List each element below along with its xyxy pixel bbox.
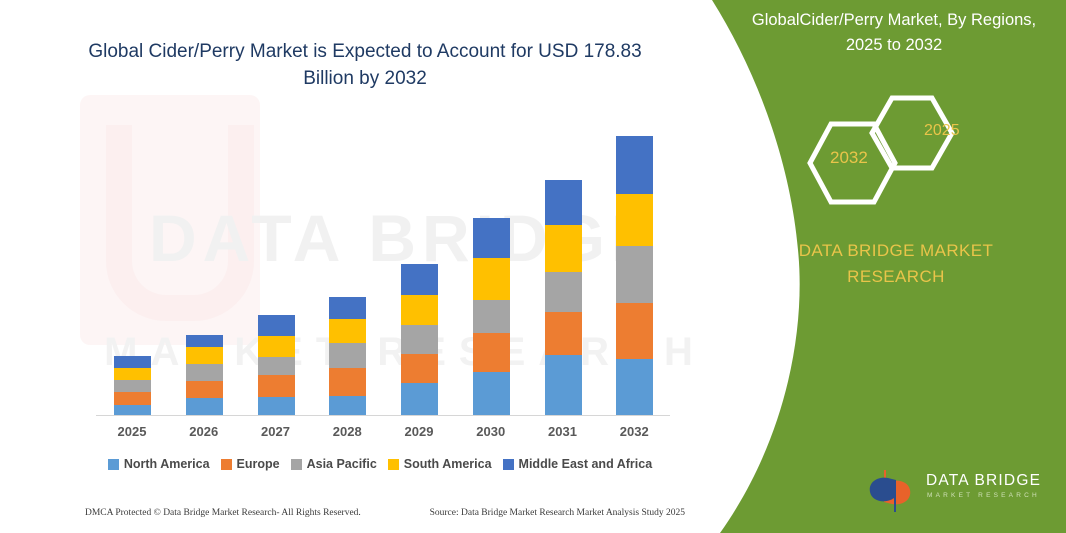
- footer-source: Source: Data Bridge Market Research Mark…: [430, 508, 685, 518]
- bar-segment[interactable]: [114, 405, 151, 415]
- logo-title: DATA BRIDGE: [926, 472, 1041, 490]
- bar-segment[interactable]: [114, 368, 151, 380]
- bar-segment[interactable]: [473, 300, 510, 333]
- stacked-bar[interactable]: [114, 356, 151, 415]
- legend-swatch: [221, 459, 232, 470]
- bar-segment[interactable]: [114, 356, 151, 368]
- chart-legend: North AmericaEuropeAsia PacificSouth Ame…: [85, 457, 675, 471]
- bar-segment[interactable]: [258, 357, 295, 375]
- bar-segment[interactable]: [186, 364, 223, 381]
- legend-swatch: [108, 459, 119, 470]
- legend-label: South America: [404, 457, 492, 471]
- bar-segment[interactable]: [616, 303, 653, 359]
- bar-group-2025: [96, 110, 168, 415]
- infographic-page: DATA BRIDGE MARKET RESEARCH Global Cider…: [0, 0, 1066, 533]
- bar-segment[interactable]: [401, 383, 438, 415]
- bar-segment[interactable]: [616, 136, 653, 194]
- stacked-bar[interactable]: [545, 180, 582, 415]
- bar-segment[interactable]: [258, 336, 295, 357]
- brand-name: DATA BRIDGE MARKET RESEARCH: [756, 238, 1036, 290]
- bar-segment[interactable]: [545, 312, 582, 355]
- bar-segment[interactable]: [186, 398, 223, 415]
- legend-item[interactable]: Middle East and Africa: [503, 457, 653, 471]
- bar-segment[interactable]: [545, 272, 582, 312]
- stacked-bar[interactable]: [616, 136, 653, 415]
- logo-subtitle: MARKET RESEARCH: [927, 492, 1040, 499]
- bar-group-2032: [598, 110, 670, 415]
- x-axis: 20252026202720282029203020312032: [96, 424, 670, 446]
- bar-segment[interactable]: [401, 325, 438, 354]
- bar-segment[interactable]: [329, 343, 366, 368]
- bar-group-2030: [455, 110, 527, 415]
- stacked-bar[interactable]: [473, 218, 510, 415]
- hexagon-group: 2032 2025: [796, 86, 1056, 206]
- x-axis-label-2029: 2029: [383, 424, 455, 439]
- legend-item[interactable]: South America: [388, 457, 492, 471]
- bar-segment[interactable]: [401, 354, 438, 383]
- bar-segment[interactable]: [329, 396, 366, 415]
- bar-group-2029: [383, 110, 455, 415]
- legend-swatch: [503, 459, 514, 470]
- bar-group-2026: [168, 110, 240, 415]
- x-axis-label-2028: 2028: [311, 424, 383, 439]
- bar-segment[interactable]: [616, 194, 653, 246]
- legend-swatch: [291, 459, 302, 470]
- legend-label: Europe: [237, 457, 280, 471]
- stacked-bar[interactable]: [258, 315, 295, 415]
- bar-segment[interactable]: [473, 333, 510, 372]
- bar-segment[interactable]: [473, 372, 510, 415]
- bar-segment[interactable]: [616, 359, 653, 415]
- bar-group-2028: [311, 110, 383, 415]
- x-axis-label-2030: 2030: [455, 424, 527, 439]
- stacked-bar[interactable]: [329, 297, 366, 415]
- x-axis-label-2025: 2025: [96, 424, 168, 439]
- bar-segment[interactable]: [545, 180, 582, 225]
- hexagon-shapes: [796, 86, 1056, 206]
- legend-label: Middle East and Africa: [519, 457, 653, 471]
- footer: DMCA Protected © Data Bridge Market Rese…: [85, 508, 685, 518]
- bar-segment[interactable]: [258, 375, 295, 397]
- chart-title: Global Cider/Perry Market is Expected to…: [80, 38, 650, 92]
- legend-swatch: [388, 459, 399, 470]
- bar-segment[interactable]: [401, 264, 438, 295]
- chart-plot-area: [96, 110, 670, 416]
- bar-segment[interactable]: [545, 225, 582, 272]
- bar-segment[interactable]: [258, 315, 295, 336]
- x-axis-label-2031: 2031: [527, 424, 599, 439]
- hexagon-label-2032: 2032: [830, 148, 868, 168]
- legend-label: Asia Pacific: [307, 457, 377, 471]
- stacked-bar[interactable]: [186, 335, 223, 415]
- legend-label: North America: [124, 457, 210, 471]
- hexagon-label-2025: 2025: [924, 122, 960, 140]
- x-axis-label-2032: 2032: [598, 424, 670, 439]
- bar-group-2031: [527, 110, 599, 415]
- bar-segment[interactable]: [473, 258, 510, 300]
- brand-panel: GlobalCider/Perry Market, By Regions, 20…: [686, 0, 1066, 533]
- bar-segment[interactable]: [329, 368, 366, 396]
- bar-segment[interactable]: [616, 246, 653, 303]
- x-axis-label-2026: 2026: [168, 424, 240, 439]
- bar-segment[interactable]: [114, 392, 151, 405]
- bar-segment[interactable]: [114, 380, 151, 392]
- data-bridge-logo: DATA BRIDGE MARKET RESEARCH: [864, 466, 1059, 520]
- bar-segment[interactable]: [186, 381, 223, 398]
- bar-segment[interactable]: [186, 347, 223, 364]
- bar-segment[interactable]: [401, 295, 438, 325]
- logo-mark-icon: [864, 466, 922, 516]
- bar-segment[interactable]: [258, 397, 295, 415]
- legend-item[interactable]: Europe: [221, 457, 280, 471]
- footer-copyright: DMCA Protected © Data Bridge Market Rese…: [85, 508, 361, 518]
- stacked-bar-chart: [96, 110, 670, 416]
- legend-item[interactable]: Asia Pacific: [291, 457, 377, 471]
- bar-segment[interactable]: [473, 218, 510, 258]
- bar-segment[interactable]: [545, 355, 582, 415]
- bar-segment[interactable]: [186, 335, 223, 347]
- x-axis-label-2027: 2027: [240, 424, 312, 439]
- panel-title: GlobalCider/Perry Market, By Regions, 20…: [734, 8, 1054, 58]
- bar-segment[interactable]: [329, 297, 366, 319]
- stacked-bar[interactable]: [401, 264, 438, 415]
- bar-group-2027: [240, 110, 312, 415]
- bar-segment[interactable]: [329, 319, 366, 343]
- legend-item[interactable]: North America: [108, 457, 210, 471]
